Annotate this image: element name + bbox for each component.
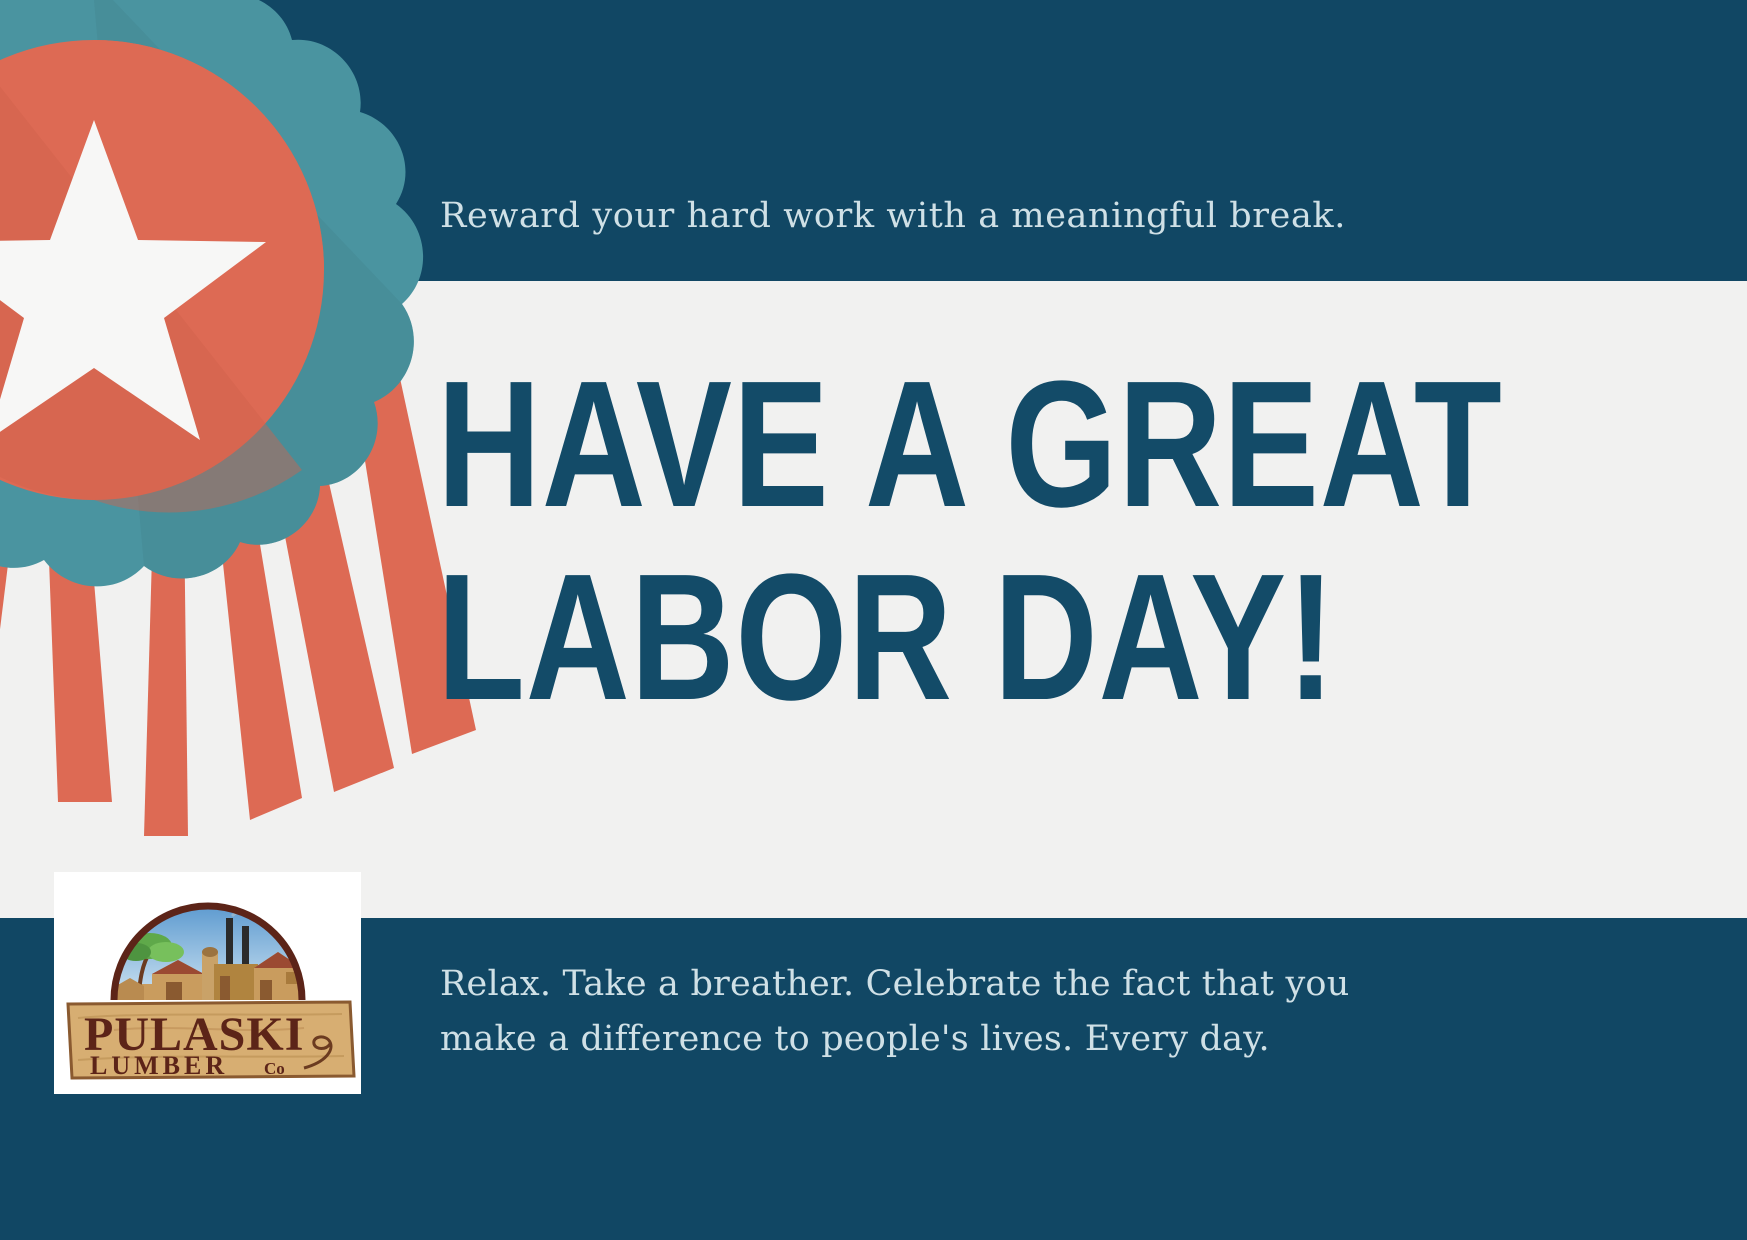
logo-name-secondary: LUMBER: [90, 1051, 228, 1080]
page-title: HAVE A GREAT LABOR DAY!: [437, 348, 1237, 734]
tagline-top: Reward your hard work with a meaningful …: [440, 196, 1500, 236]
award-rosette-icon: [0, 0, 502, 870]
company-logo: PULASKI LUMBER Co: [54, 872, 361, 1094]
logo-name-suffix: Co: [264, 1059, 285, 1078]
tagline-bottom: Relax. Take a breather. Celebrate the fa…: [440, 957, 1450, 1067]
poster-canvas: Reward your hard work with a meaningful …: [0, 0, 1747, 1240]
headline-line-2: LABOR DAY!: [437, 541, 1237, 734]
logo-wood-sign: PULASKI LUMBER Co: [68, 1002, 354, 1080]
tagline-bottom-line-2: make a difference to people's lives. Eve…: [440, 1012, 1450, 1067]
headline-line-1: HAVE A GREAT: [437, 344, 1503, 545]
tagline-bottom-line-1: Relax. Take a breather. Celebrate the fa…: [440, 957, 1450, 1012]
